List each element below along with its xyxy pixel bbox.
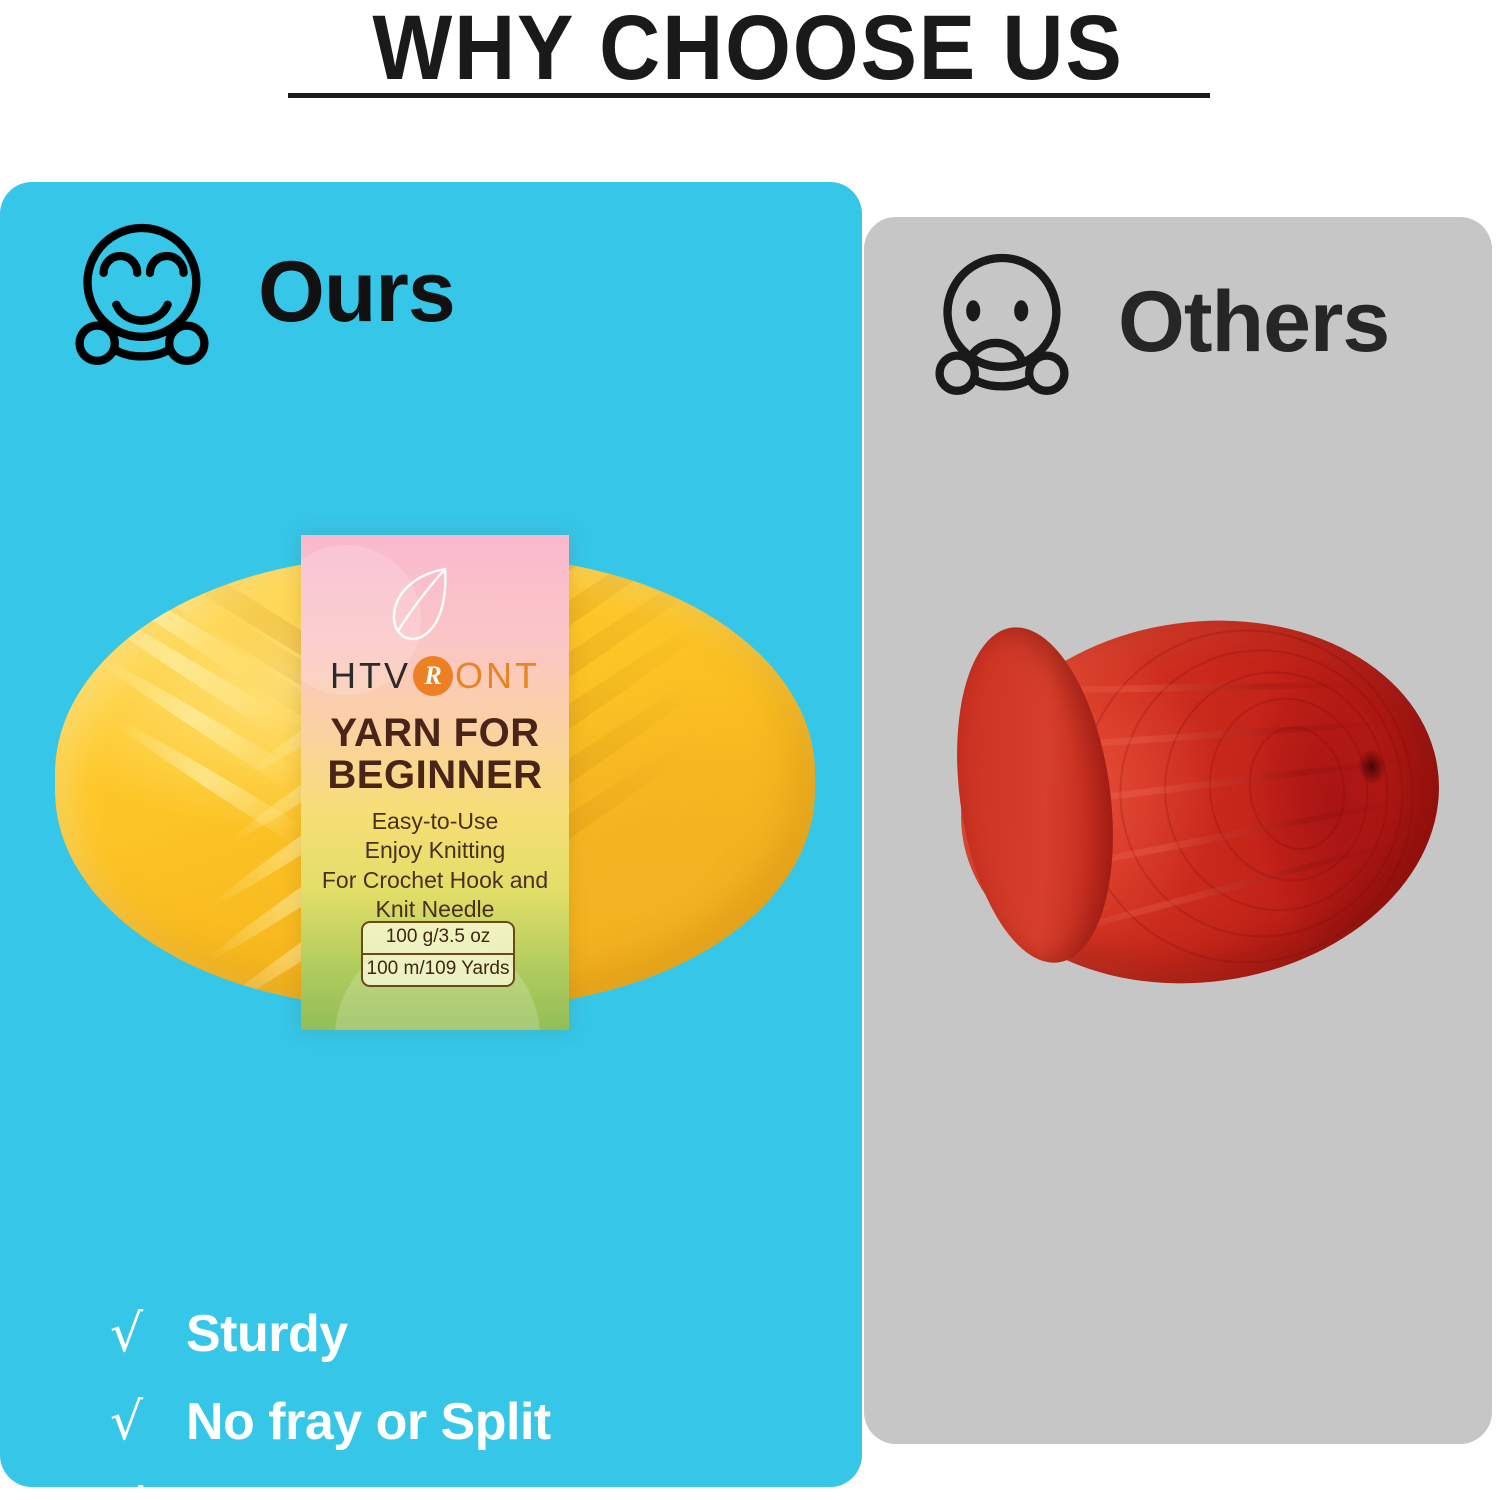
brand-name-secondary: ONT — [455, 655, 540, 697]
spec-weight: 100 g/3.5 oz — [363, 923, 513, 955]
ours-panel: Ours HTV — [0, 182, 862, 1487]
list-item-label: No fray or Split — [186, 1392, 551, 1452]
ours-product-image: HTV R ONT YARN FOR BEGINNER Easy-to-Use … — [55, 557, 815, 1007]
happy-face-icon — [62, 212, 222, 372]
title-block: WHY CHOOSE US — [0, 0, 1496, 120]
ours-panel-label: Ours — [258, 249, 455, 335]
list-item-label: Easy to see stitches — [186, 1480, 673, 1487]
yarn-wrapper-label: HTV R ONT YARN FOR BEGINNER Easy-to-Use … — [301, 535, 569, 1030]
list-item-label: Sturdy — [186, 1304, 348, 1364]
product-spec-box: 100 g/3.5 oz 100 m/109 Yards — [361, 921, 515, 987]
list-item: √ Easy to see stitches — [110, 1480, 810, 1487]
ours-feature-list: √ Sturdy √ No fray or Split √ Easy to se… — [110, 1304, 810, 1487]
title-underline — [288, 93, 1210, 98]
list-item: √ Sturdy — [110, 1304, 810, 1392]
brand-name-primary: HTV — [330, 655, 411, 697]
check-icon: √ — [110, 1392, 186, 1452]
others-product-image — [960, 582, 1440, 1022]
sad-face-icon — [922, 242, 1082, 402]
list-item: √ No fray or Split — [110, 1392, 810, 1480]
product-title-line-2: BEGINNER — [301, 755, 569, 795]
others-panel-label: Others — [1118, 279, 1389, 365]
brand-mark-icon: R — [413, 656, 453, 696]
ours-panel-header: Ours — [62, 212, 455, 372]
spec-length: 100 m/109 Yards — [363, 955, 513, 985]
brand-logo: HTV R ONT — [301, 655, 569, 697]
check-icon: √ — [110, 1480, 186, 1487]
check-icon: √ — [110, 1304, 186, 1364]
product-subtitle: Easy-to-Use Enjoy Knitting For Crochet H… — [301, 807, 569, 925]
page-title: WHY CHOOSE US — [60, 0, 1436, 101]
brand-mark-letter: R — [424, 663, 441, 689]
product-title-line-1: YARN FOR — [301, 713, 569, 753]
leaf-icon — [383, 563, 457, 649]
others-panel-header: Others — [922, 242, 1389, 402]
others-panel: Others × Easy to Break × Easy to split — [864, 217, 1492, 1444]
